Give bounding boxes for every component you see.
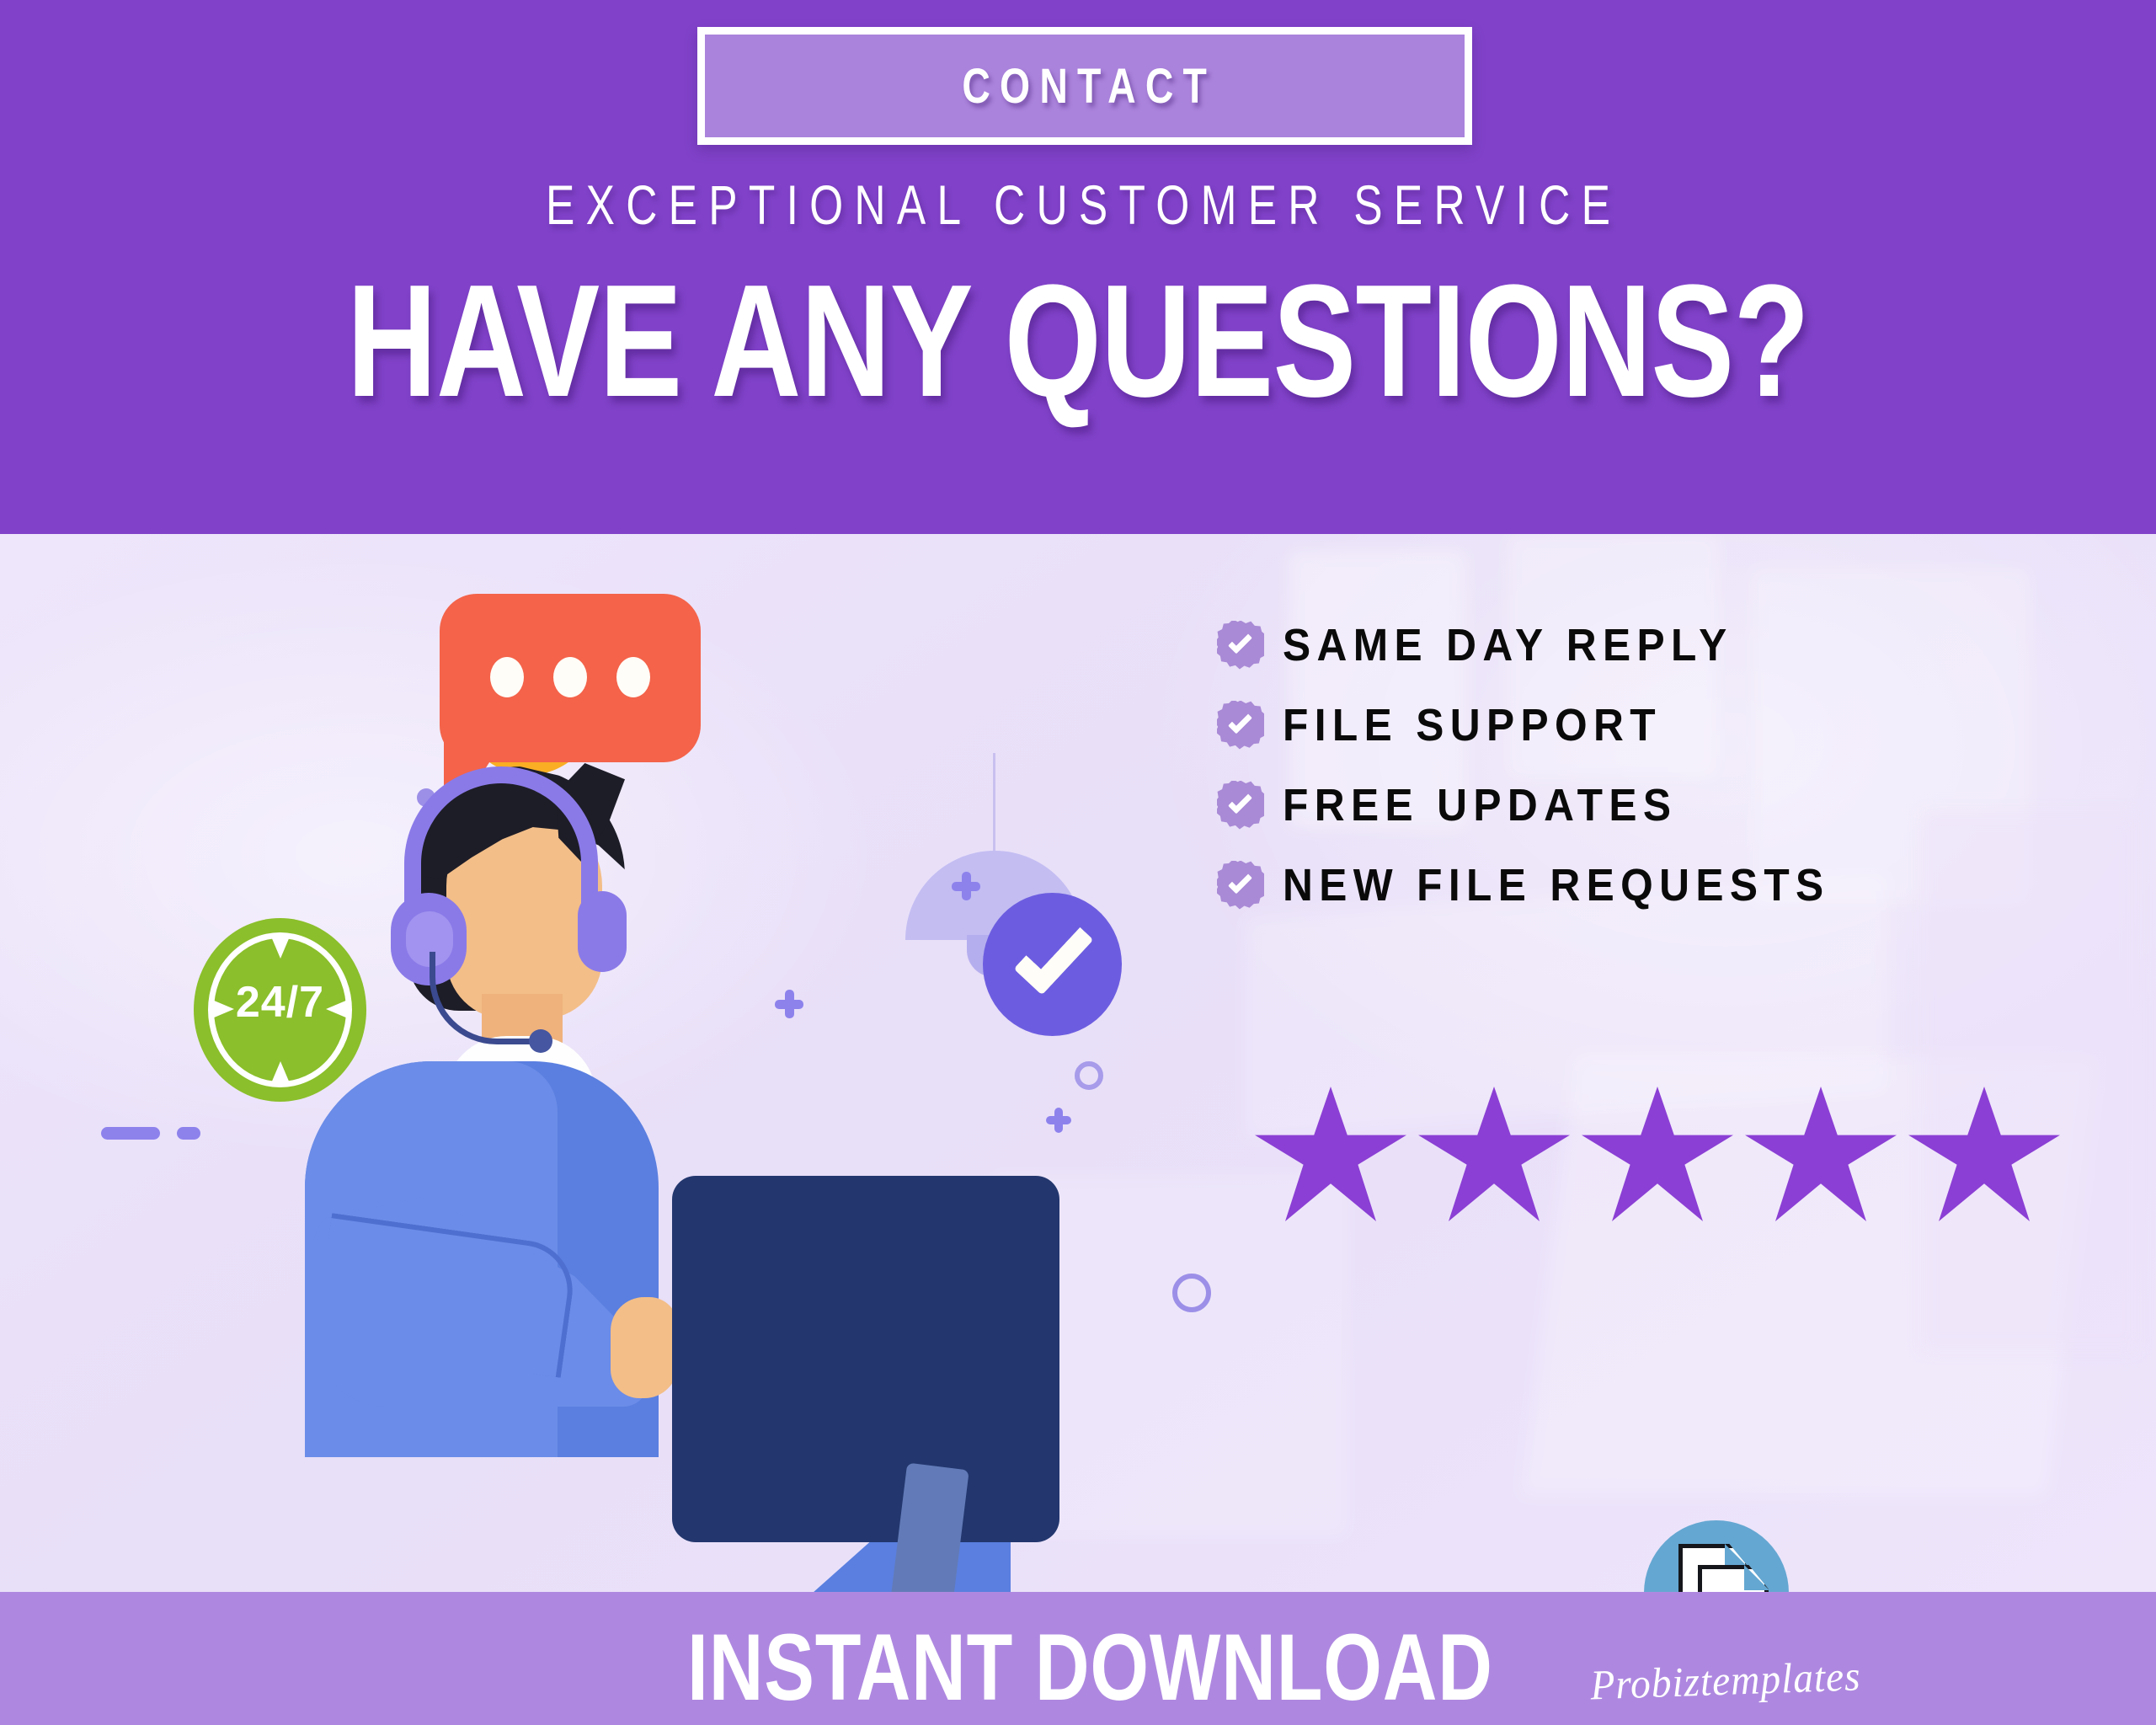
ring-decoration — [1075, 1061, 1103, 1090]
page-title: HAVE ANY QUESTIONS? — [237, 261, 1919, 421]
desktop-monitor-icon — [672, 1176, 1059, 1542]
typing-dot-icon — [616, 657, 650, 697]
feature-label: FREE UPDATES — [1283, 779, 1677, 831]
feature-list: SAME DAY REPLY FILE SUPPORT FREE UPDATES… — [1217, 605, 2110, 925]
list-item: FREE UPDATES — [1217, 765, 2110, 845]
typing-dot-icon — [553, 657, 587, 697]
instant-download-label: INSTANT DOWNLOAD — [687, 1613, 1469, 1722]
star-icon — [1908, 1087, 2060, 1221]
dash-decoration — [101, 1127, 160, 1140]
clock-label: 24/7 — [194, 977, 366, 1028]
feature-label: FILE SUPPORT — [1283, 699, 1662, 751]
star-icon — [1582, 1087, 1733, 1221]
contact-badge-label: CONTACT — [953, 58, 1217, 115]
plus-icon — [1046, 1108, 1071, 1133]
poster-canvas: CONTACT EXCEPTIONAL CUSTOMER SERVICE HAV… — [0, 0, 2156, 1725]
header-subtitle: EXCEPTIONAL CUSTOMER SERVICE — [237, 173, 1919, 237]
plus-icon — [952, 872, 980, 900]
headset-mic-arm-icon — [430, 952, 539, 1044]
rating-stars — [1255, 1087, 2060, 1221]
agent-hand — [611, 1297, 678, 1398]
verified-badge-check-icon — [1217, 861, 1264, 910]
list-item: SAME DAY REPLY — [1217, 605, 2110, 685]
support-agent-illustration: 24/7 — [109, 556, 1221, 1600]
header-band: CONTACT EXCEPTIONAL CUSTOMER SERVICE HAV… — [0, 0, 2156, 534]
feature-label: NEW FILE REQUESTS — [1283, 859, 1830, 911]
plus-icon — [775, 990, 803, 1018]
headset-mic-tip-icon — [529, 1029, 552, 1053]
headset-earcup-right-icon — [578, 891, 627, 972]
dash-decoration — [177, 1127, 200, 1140]
verified-badge-check-icon — [1217, 701, 1264, 750]
verified-badge-check-icon — [1217, 781, 1264, 830]
feature-label: SAME DAY REPLY — [1283, 619, 1733, 671]
star-icon — [1745, 1087, 1897, 1221]
contact-badge[interactable]: CONTACT — [697, 27, 1472, 145]
star-icon — [1418, 1087, 1570, 1221]
brand-name: Probiztemplates — [1589, 1652, 1854, 1710]
list-item: NEW FILE REQUESTS — [1217, 845, 2110, 925]
star-icon — [1255, 1087, 1406, 1221]
typing-dot-icon — [490, 657, 524, 697]
list-item: FILE SUPPORT — [1217, 685, 2110, 765]
verified-badge-check-icon — [1217, 621, 1264, 670]
ring-decoration — [1172, 1274, 1211, 1312]
lamp-cord-icon — [993, 753, 995, 854]
